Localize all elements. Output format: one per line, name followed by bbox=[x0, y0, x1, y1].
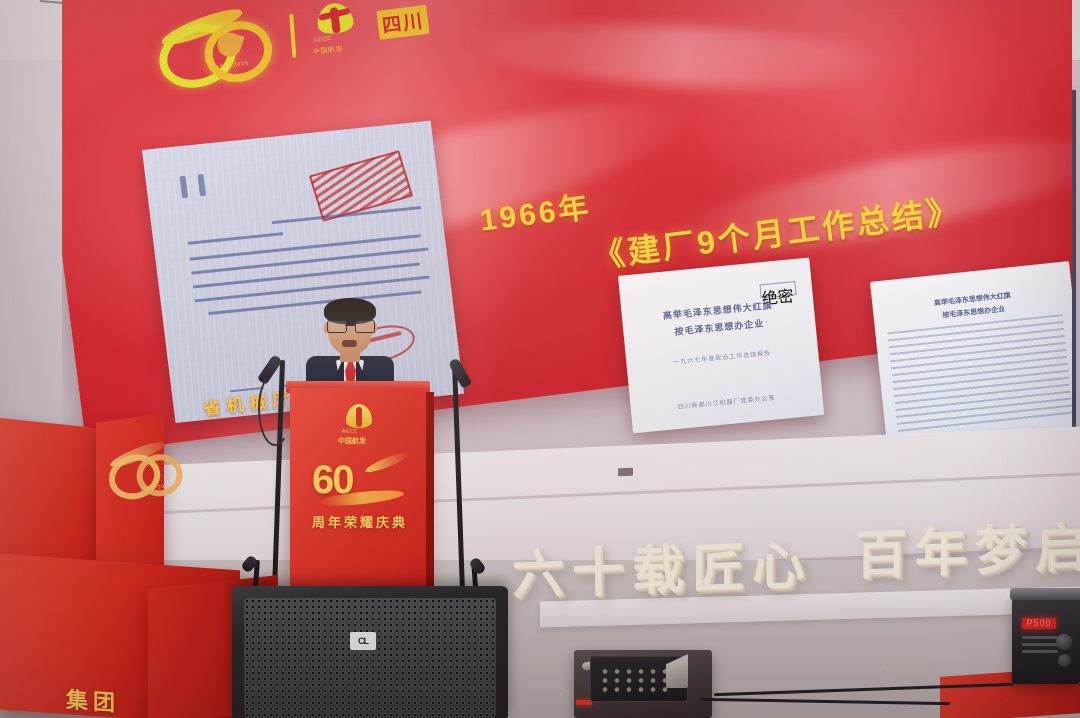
document-subtitle: 一九六七年度政治工作总结报告 bbox=[654, 346, 790, 368]
glasses-lens-left bbox=[327, 320, 347, 333]
province-badge: 四川 bbox=[376, 4, 429, 39]
glasses-icon bbox=[326, 320, 374, 331]
aecc-fan-blade-icon bbox=[315, 1, 354, 35]
aecc-logo-cn: 中国航发 bbox=[312, 44, 343, 58]
display-box-group-text: 集团 bbox=[66, 682, 120, 718]
aecc-logo-icon: AECC 中国航发 bbox=[307, 0, 365, 60]
amplifier-knob[interactable] bbox=[1056, 634, 1072, 650]
mixer-button-grid[interactable] bbox=[599, 667, 673, 693]
document-title-line1: 高举毛泽东思想伟大红旗 bbox=[934, 292, 1011, 307]
document-page-center: 绝密 高举毛泽东思想伟大红旗 按毛泽东思想办企业 一九六七年度政治工作总结报告 … bbox=[618, 258, 824, 434]
document-title-line2: 按毛泽东思想办企业 bbox=[942, 306, 1005, 320]
podium-logo-cn: 中国航发 bbox=[338, 436, 366, 446]
aecc-logo-abbr: AECC bbox=[313, 36, 332, 44]
pa-speaker-cabinet: CL bbox=[232, 586, 508, 718]
led-backdrop-screen: 1966-2026 AECC 中国航发 四川 1966年 《建厂9个月工作总结》 bbox=[62, 0, 1072, 470]
glasses-bridge bbox=[345, 324, 355, 326]
document-body-text bbox=[887, 314, 1072, 436]
aecc-fan-blade-icon bbox=[346, 404, 372, 428]
audio-mixer-case bbox=[574, 650, 712, 718]
amplifier-display: P500 bbox=[1022, 618, 1056, 629]
amplifier-rack: P500 bbox=[1012, 596, 1080, 684]
document-title-line1: 高举毛泽东思想伟大红旗 bbox=[663, 300, 773, 320]
amplifier-top-handle[interactable] bbox=[1010, 588, 1080, 600]
document-page-right: 高举毛泽东思想伟大红旗 按毛泽东思想办企业 bbox=[870, 261, 1072, 449]
pa-speaker-badge: CL bbox=[350, 632, 376, 650]
amplifier-vents bbox=[1022, 636, 1058, 639]
podium-anniversary-label: 周年荣耀庆典 bbox=[304, 512, 416, 531]
logo-divider bbox=[289, 13, 296, 57]
podium: AECC 中国航发 60 周年荣耀庆典 bbox=[290, 388, 426, 592]
anniversary-60-logo-icon: 1966-2026 bbox=[154, 7, 279, 83]
pa-speaker-grille bbox=[244, 598, 496, 718]
amplifier-knob[interactable] bbox=[1058, 654, 1071, 667]
glasses-lens-right bbox=[355, 320, 375, 333]
wall-letters-left: 六十载匠心 bbox=[512, 523, 812, 608]
celebration-stage-scene: 1966-2026 AECC 中国航发 四川 1966年 《建厂9个月工作总结》 bbox=[0, 0, 1080, 718]
document-title-line2: 按毛泽东思想办企业 bbox=[674, 318, 765, 337]
wall-letters-right: 百年梦启航 bbox=[855, 503, 1080, 588]
document-footer: 四川新都川江机器厂党委办公室 bbox=[656, 390, 796, 412]
podium-aecc-logo-icon: AECC 中国航发 bbox=[338, 404, 378, 446]
wall-vent-icon bbox=[618, 468, 633, 477]
display-box-anniversary-logo-icon: 1966-2026 bbox=[106, 444, 180, 497]
document-title: 高举毛泽东思想伟大红旗 按毛泽东思想办企业 bbox=[639, 295, 798, 344]
presenter-mouth bbox=[342, 340, 357, 347]
podium-logo-abbr: AECC bbox=[342, 429, 358, 435]
